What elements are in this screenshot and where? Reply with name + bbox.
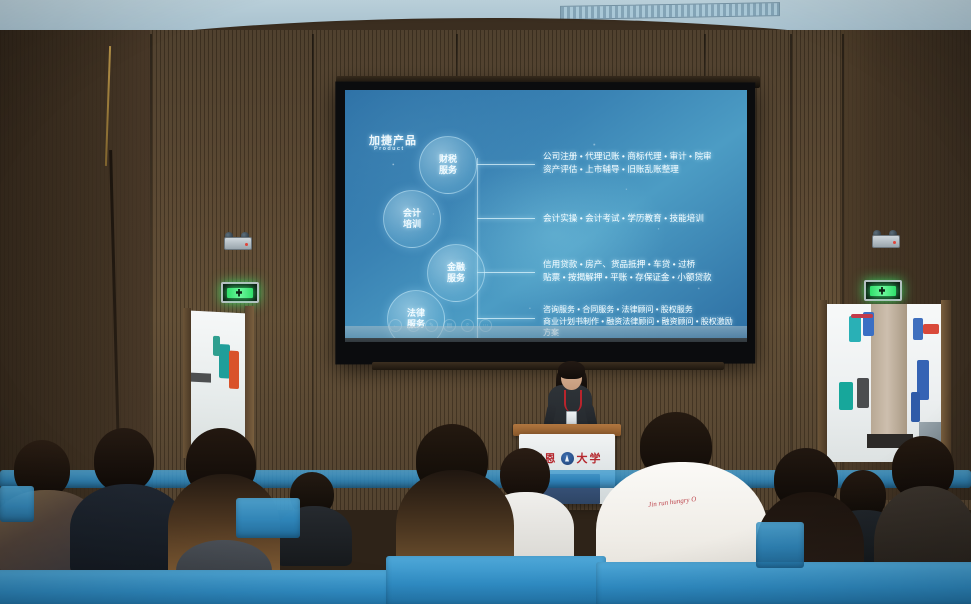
wall-speaker-device-left: [224, 232, 250, 250]
seat-row-front-right[interactable]: [596, 562, 971, 604]
wall-seam: [312, 34, 314, 504]
lecture-hall-photo: 加捷产品 Product 财税 服务 会计 培训 金融 服务 法律 服务 公司注…: [0, 0, 971, 604]
detail-line: 资产评估 • 上市辅导 • 旧账乱账整理: [543, 163, 712, 176]
gear-connector-2: [477, 218, 535, 219]
presentation-slide[interactable]: 加捷产品 Product 财税 服务 会计 培训 金融 服务 法律 服务 公司注…: [345, 90, 747, 338]
gear-connector-1: [477, 164, 535, 165]
podium-name-right: 大学: [577, 450, 603, 466]
indicator-led: [245, 243, 248, 246]
exit-sign-right: [864, 280, 902, 301]
wall-seam: [150, 34, 152, 504]
detail-block-accounting-training: 会计实操 • 会计考试 • 学历教育 • 技能培训: [543, 212, 704, 225]
gear-label-line1: 会计: [403, 208, 421, 219]
device-body: [224, 237, 252, 250]
diagram-spine: [477, 158, 478, 338]
gear-accounting-training[interactable]: 会计 培训: [383, 190, 441, 248]
door-frame-right: [818, 300, 827, 462]
seat-divider[interactable]: [236, 498, 300, 538]
gear-label-line1: 法律: [407, 308, 425, 319]
screen-lower-apron: [345, 326, 747, 342]
gear-financial-services[interactable]: 金融 服务: [427, 244, 485, 302]
exit-sign-left: [221, 282, 259, 303]
corridor-pillar: [871, 304, 907, 444]
detail-line: 信用贷款 • 房产、货品抵押 • 车贷 • 过桥: [543, 258, 712, 271]
stool-blue: [911, 392, 920, 422]
detail-line: 咨询服务 • 合同服务 • 法律顾问 • 股权服务: [543, 304, 733, 316]
corridor-bench: [191, 373, 211, 383]
seat-divider[interactable]: [0, 486, 34, 522]
gear-finance-tax[interactable]: 财税 服务: [419, 136, 477, 194]
device-body: [872, 235, 900, 248]
slide-subtitle: Product: [374, 146, 405, 152]
door-frame-left-outer: [245, 306, 254, 461]
stool-teal: [849, 316, 861, 342]
audience-head: [94, 428, 154, 492]
door-frame-left: [183, 308, 191, 458]
stool-orange: [229, 351, 239, 390]
exit-running-man-icon: [870, 286, 896, 296]
stool-red: [923, 324, 939, 334]
speaker-hair: [558, 361, 585, 379]
gear-label-line2: 服务: [447, 273, 465, 284]
detail-line: 公司注册 • 代理记账 • 商标代理 • 审计 • 院审: [543, 150, 712, 163]
detail-block-financial-services: 信用贷款 • 房产、货品抵押 • 车贷 • 过桥 贴票 • 按揭解押 • 平账 …: [543, 258, 712, 283]
gear-label-line1: 金融: [447, 262, 465, 273]
stool-dark: [857, 378, 869, 408]
detail-block-finance-tax: 公司注册 • 代理记账 • 商标代理 • 审计 • 院审 资产评估 • 上市辅导…: [543, 150, 712, 175]
university-logo-icon: [561, 452, 574, 465]
gear-label-line1: 财税: [439, 154, 457, 165]
stool-teal: [213, 336, 220, 356]
stool-table-edge: [851, 314, 873, 318]
screen-base-rail: [372, 362, 724, 370]
door-frame-right-outer: [941, 300, 951, 462]
detail-line: 会计实操 • 会计考试 • 学历教育 • 技能培训: [543, 212, 704, 225]
speaker-lanyard: [564, 390, 582, 412]
detail-line: 贴票 • 按揭解押 • 平账 • 存保证金 • 小额贷款: [543, 271, 712, 284]
gear-label-line2: 培训: [403, 219, 421, 230]
wall-speaker-device-right: [872, 230, 898, 248]
gear-label-line2: 服务: [439, 165, 457, 176]
exit-running-man-icon: [227, 288, 253, 298]
stool-teal: [839, 382, 853, 410]
speaker-id-badge: [566, 411, 577, 425]
seat-row-front-left[interactable]: [0, 570, 390, 604]
indicator-led: [893, 241, 896, 244]
seat-divider[interactable]: [756, 522, 804, 568]
gear-connector-3: [477, 272, 535, 273]
stool-blue: [913, 318, 923, 340]
wall-seam: [790, 34, 792, 504]
seat-row-front-center[interactable]: [386, 556, 606, 604]
